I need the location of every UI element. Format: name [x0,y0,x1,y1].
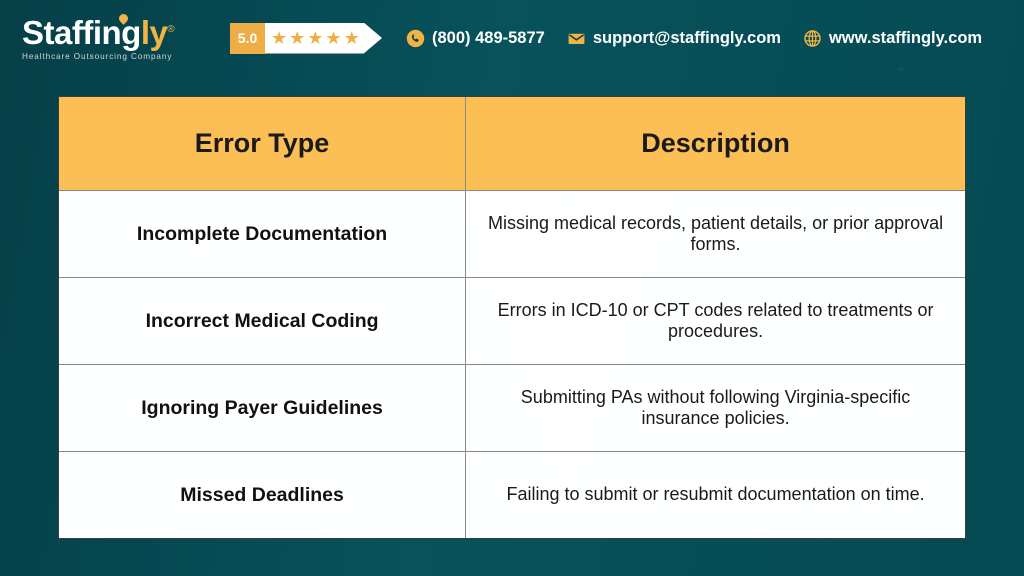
email-icon [567,29,586,48]
contact-phone-text: (800) 489-5877 [432,29,545,48]
logo-tagline: Healthcare Outsourcing Company [22,52,214,61]
site-header: Staffingly® Healthcare Outsourcing Compa… [0,0,1024,76]
contact-list: (800) 489-5877 support@staffingly.com ww… [406,29,982,48]
star-icon: ★ [344,29,360,47]
contact-website-text: www.staffingly.com [829,29,982,48]
cell-error-type: Ignoring Payer Guidelines [59,365,466,451]
logo[interactable]: Staffingly® Healthcare Outsourcing Compa… [22,16,214,61]
table-row: Incomplete Documentation Missing medical… [59,190,965,277]
rating-stars: ★ ★ ★ ★ ★ [265,23,382,54]
cell-description: Failing to submit or resubmit documentat… [466,452,965,538]
error-types-table: Error Type Description Incomplete Docume… [58,96,966,539]
star-icon: ★ [307,29,323,47]
logo-wordmark: Staffingly® [22,16,214,49]
column-header-description: Description [466,97,965,190]
column-header-error-type: Error Type [59,97,466,190]
registered-mark: ® [167,24,174,35]
table-row: Ignoring Payer Guidelines Submitting PAs… [59,364,965,451]
star-icon: ★ [289,29,305,47]
globe-icon [803,29,822,48]
table-row: Incorrect Medical Coding Errors in ICD-1… [59,277,965,364]
star-icon: ★ [325,29,341,47]
cell-error-type: Incorrect Medical Coding [59,278,466,364]
contact-email[interactable]: support@staffingly.com [567,29,781,48]
cell-error-type: Missed Deadlines [59,452,466,538]
phone-icon [406,29,425,48]
contact-email-text: support@staffingly.com [593,29,781,48]
logo-text-accent: ly [141,14,168,51]
rating-score: 5.0 [230,23,265,54]
cell-description: Missing medical records, patient details… [466,191,965,277]
star-icon: ★ [271,29,287,47]
table-header-row: Error Type Description [59,97,965,190]
cell-error-type: Incomplete Documentation [59,191,466,277]
rating-badge: 5.0 ★ ★ ★ ★ ★ [230,23,382,54]
table-row: Missed Deadlines Failing to submit or re… [59,451,965,538]
contact-phone[interactable]: (800) 489-5877 [406,29,545,48]
contact-website[interactable]: www.staffingly.com [803,29,982,48]
cell-description: Submitting PAs without following Virgini… [466,365,965,451]
cell-description: Errors in ICD-10 or CPT codes related to… [466,278,965,364]
